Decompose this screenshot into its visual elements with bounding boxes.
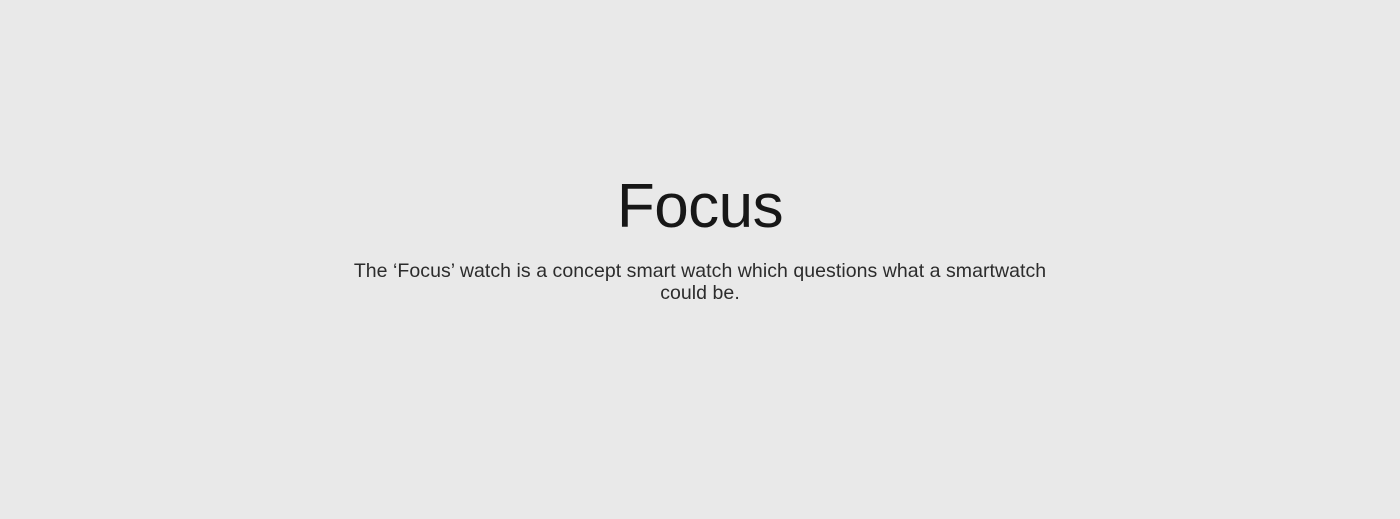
page-root: Focus The ‘Focus’ watch is a concept sma… [0, 0, 1400, 519]
hero-section: Focus The ‘Focus’ watch is a concept sma… [0, 176, 1400, 304]
page-subtitle: The ‘Focus’ watch is a concept smart wat… [335, 260, 1065, 304]
page-title: Focus [617, 176, 783, 238]
